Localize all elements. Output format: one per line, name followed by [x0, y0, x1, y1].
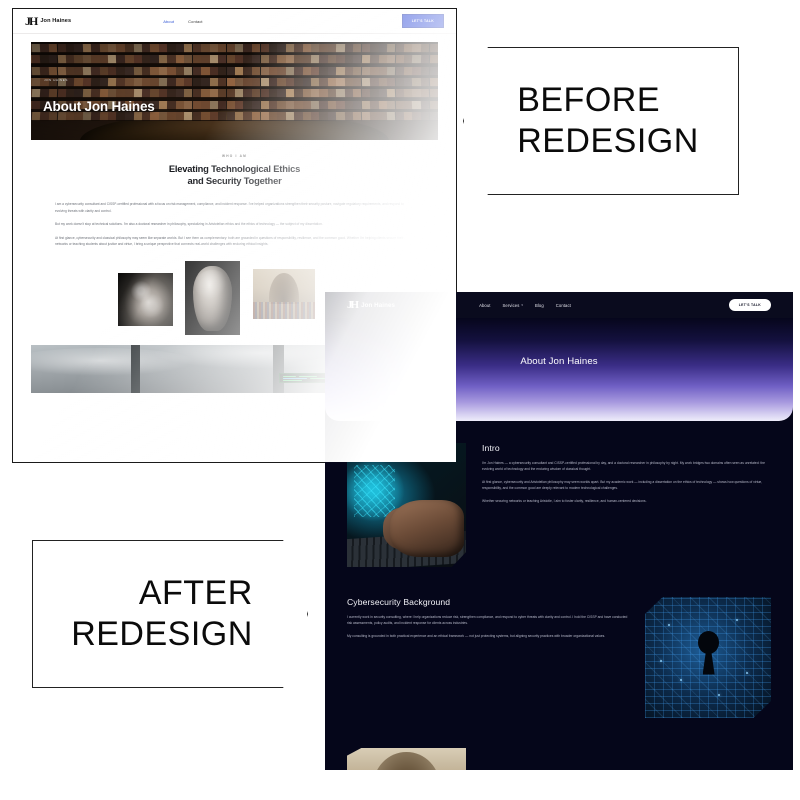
circuit-board-keyhole-photo	[645, 597, 771, 718]
jh-monogram-icon: JH	[347, 300, 357, 311]
intro-paragraph: I'm Jon Haines — a cybersecurity consult…	[482, 460, 771, 473]
hercules-bust-photo	[185, 261, 240, 335]
jh-monogram-icon: JH	[25, 15, 36, 27]
after-nav-blog[interactable]: Blog	[535, 303, 544, 308]
after-lets-talk-button[interactable]: LET'S TALK	[729, 299, 771, 311]
before-nav-contact[interactable]: Contact	[188, 19, 203, 24]
after-nav-links: About Services ▾ Blog Contact	[479, 303, 571, 308]
before-paragraph: I am a cybersecurity consultant and CISS…	[55, 201, 414, 214]
cybersecurity-paragraph: My consulting is grounded in both practi…	[347, 633, 629, 639]
before-brand-name: Jon Haines	[40, 18, 71, 24]
after-nav-about[interactable]: About	[479, 303, 490, 308]
before-logo[interactable]: JH Jon Haines	[25, 15, 71, 27]
after-content: Intro I'm Jon Haines — a cybersecurity c…	[325, 421, 793, 770]
after-redesign-label: AFTER REDESIGN	[71, 573, 253, 656]
after-navbar: JH Jon Haines About Services ▾ Blog Cont…	[325, 292, 793, 318]
section-intro: Intro I'm Jon Haines — a cybersecurity c…	[347, 443, 771, 567]
after-brand-name: Jon Haines	[361, 302, 395, 309]
intro-paragraph: Whether securing networks or teaching Ar…	[482, 498, 771, 504]
roman-arch-interior-photo	[347, 748, 466, 770]
before-eyebrow: WHO I AM	[13, 154, 456, 158]
library-bookshelves-photo	[31, 42, 438, 140]
before-lets-talk-button[interactable]: LET'S TALK	[402, 14, 444, 28]
before-redesign-banner: BEFORE REDESIGN	[463, 47, 739, 195]
after-nav-contact[interactable]: Contact	[556, 303, 571, 308]
classical-statue-photo	[118, 273, 173, 326]
after-nav-services[interactable]: Services ▾	[503, 303, 523, 308]
after-redesign-screenshot: JH Jon Haines About Services ▾ Blog Cont…	[325, 292, 793, 770]
before-nav-about[interactable]: About	[163, 19, 174, 24]
after-hero-gradient: About Jon Haines	[325, 318, 793, 421]
after-logo[interactable]: JH Jon Haines	[347, 300, 395, 311]
intro-heading: Intro	[482, 443, 771, 453]
before-hero-title: About Jon Haines	[43, 99, 155, 114]
before-nav-links: About Contact	[163, 19, 202, 24]
cyber-hands-keyboard-photo	[347, 443, 466, 567]
section-philosophical-background: Philosophical Background	[347, 748, 771, 770]
cybersecurity-paragraph: I currently work in security consulting,…	[347, 614, 629, 627]
before-paragraph: But my work doesn't stop at technical so…	[55, 221, 414, 227]
school-of-athens-fresco	[253, 269, 315, 319]
intro-paragraph: At first glance, cybersecurity and Arist…	[482, 479, 771, 492]
cybersecurity-heading: Cybersecurity Background	[347, 597, 629, 607]
before-heading: Elevating Technological Ethics and Secur…	[13, 163, 456, 187]
before-hero-kicker: JON HAINES	[44, 78, 68, 82]
before-redesign-label: BEFORE REDESIGN	[517, 80, 699, 163]
before-navbar: JH Jon Haines About Contact LET'S TALK	[13, 9, 456, 34]
before-body-copy: I am a cybersecurity consultant and CISS…	[55, 201, 414, 247]
after-redesign-banner: AFTER REDESIGN	[32, 540, 308, 688]
after-nav-services-label: Services	[503, 303, 520, 308]
chevron-down-icon: ▾	[521, 304, 523, 307]
before-paragraph: At first glance, cybersecurity and class…	[55, 235, 414, 248]
before-hero: JON HAINES About Jon Haines	[31, 42, 438, 140]
section-cybersecurity-background: Cybersecurity Background I currently wor…	[347, 597, 771, 718]
comparison-canvas: JH Jon Haines About Contact LET'S TALK J…	[0, 0, 800, 800]
after-hero-title: About Jon Haines	[325, 356, 793, 367]
